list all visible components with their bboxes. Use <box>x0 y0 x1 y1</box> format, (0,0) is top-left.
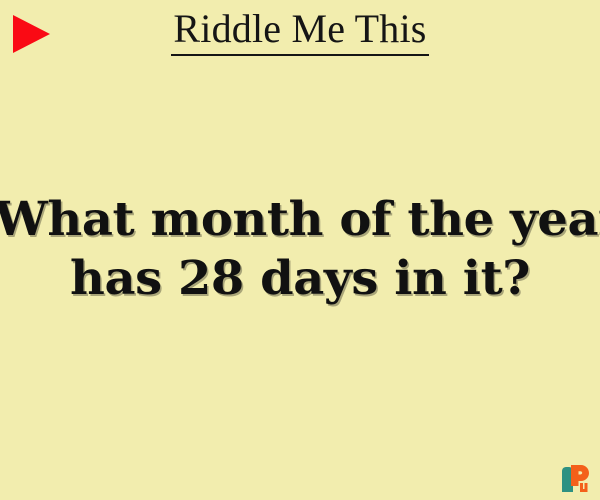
riddle-text-block: What month of the year has 28 days in it… <box>0 190 600 308</box>
riddle-slide: Riddle Me This What month of the year ha… <box>0 0 600 500</box>
page-title-text: Riddle Me This <box>171 6 428 56</box>
brand-logo-icon <box>558 462 592 494</box>
page-title: Riddle Me This <box>0 6 600 56</box>
riddle-line-1: What month of the year <box>0 190 600 249</box>
riddle-line-2: has 28 days in it? <box>0 249 600 308</box>
